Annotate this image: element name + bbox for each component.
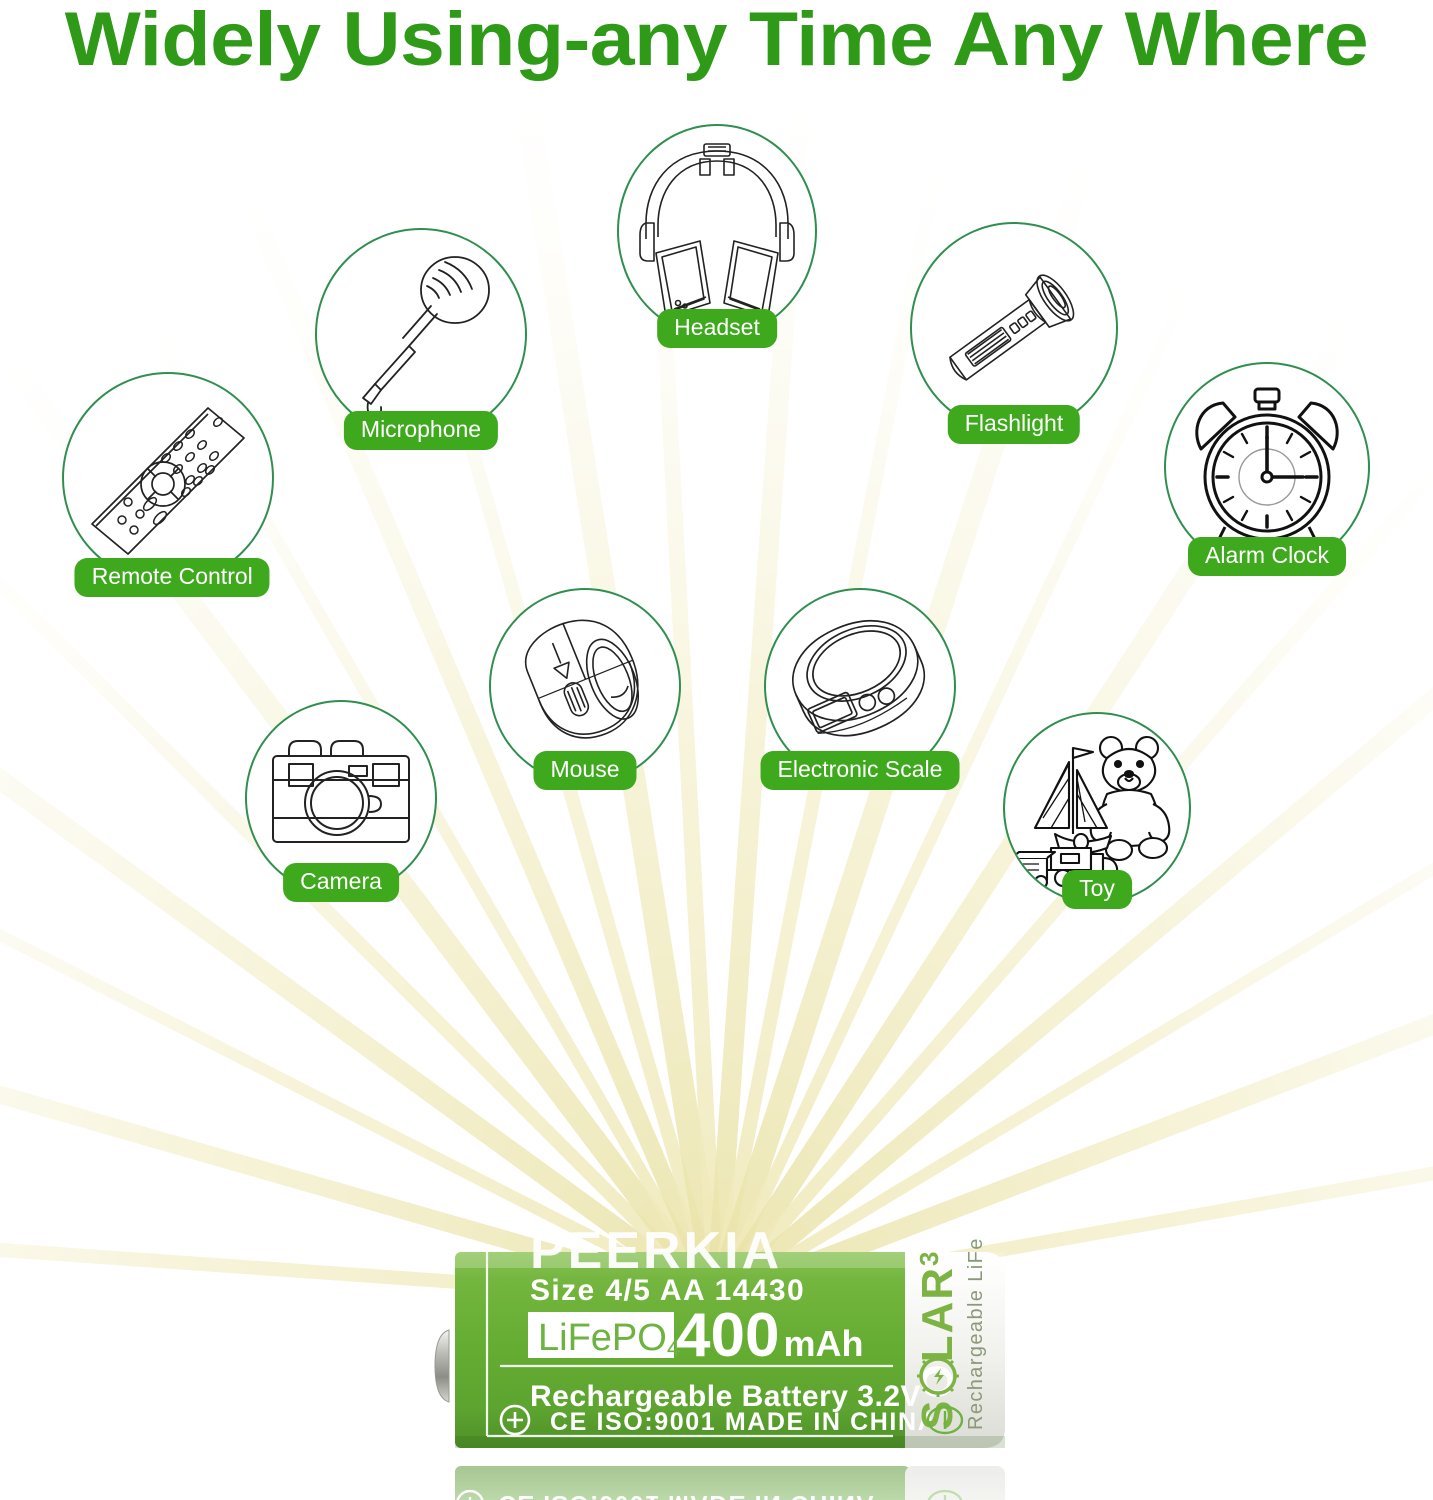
application-badge-toy[interactable]: Toy <box>1003 712 1191 904</box>
badge-label: Flashlight <box>948 405 1080 444</box>
application-badge-camera[interactable]: Camera <box>245 700 437 896</box>
microphone-icon <box>321 234 521 434</box>
battery-brand: PEERKIA <box>530 1230 782 1280</box>
battery-side-sub: Rechargeable LiFe <box>965 1237 987 1430</box>
application-badge-microphone[interactable]: Microphone <box>315 228 527 440</box>
battery-side-brand: SOLAR <box>913 1266 962 1430</box>
battery-chemistry: LiFePO4 <box>538 1317 680 1362</box>
headset-icon <box>622 131 812 331</box>
icon-circle <box>910 222 1118 434</box>
battery-side-number: 3 <box>914 1252 944 1266</box>
application-badge-flashlight[interactable]: Flashlight <box>910 222 1118 434</box>
icon-circle <box>315 228 527 440</box>
flashlight-icon <box>915 228 1113 428</box>
alarm-clock-icon <box>1169 369 1365 565</box>
battery-footer-line: CE ISO:9001 MADE IN CHINA <box>550 1408 937 1436</box>
badge-label: Electronic Scale <box>761 751 960 790</box>
remote-control-icon <box>68 378 268 578</box>
badge-label: Alarm Clock <box>1188 537 1346 576</box>
page-title: Widely Using-any Time Any Where <box>0 0 1433 83</box>
application-badge-electronic-scale[interactable]: Electronic Scale <box>764 588 956 784</box>
badge-label: Toy <box>1062 870 1132 909</box>
application-badge-mouse[interactable]: Mouse <box>489 588 681 784</box>
application-badge-remote-control[interactable]: Remote Control <box>62 372 274 584</box>
application-badge-headset[interactable]: Headset <box>617 124 817 338</box>
badge-label: Mouse <box>533 751 636 790</box>
badge-label: Camera <box>283 863 399 902</box>
icon-circle <box>62 372 274 584</box>
badge-label: Microphone <box>344 411 498 450</box>
battery-product-image: CE ISO:9001 MADE IN CHINA <box>0 1230 1433 1500</box>
badge-label: Remote Control <box>75 558 270 597</box>
application-badge-alarm-clock[interactable]: Alarm Clock <box>1164 362 1370 572</box>
icon-circle <box>617 124 817 338</box>
badge-label: Headset <box>657 309 777 348</box>
